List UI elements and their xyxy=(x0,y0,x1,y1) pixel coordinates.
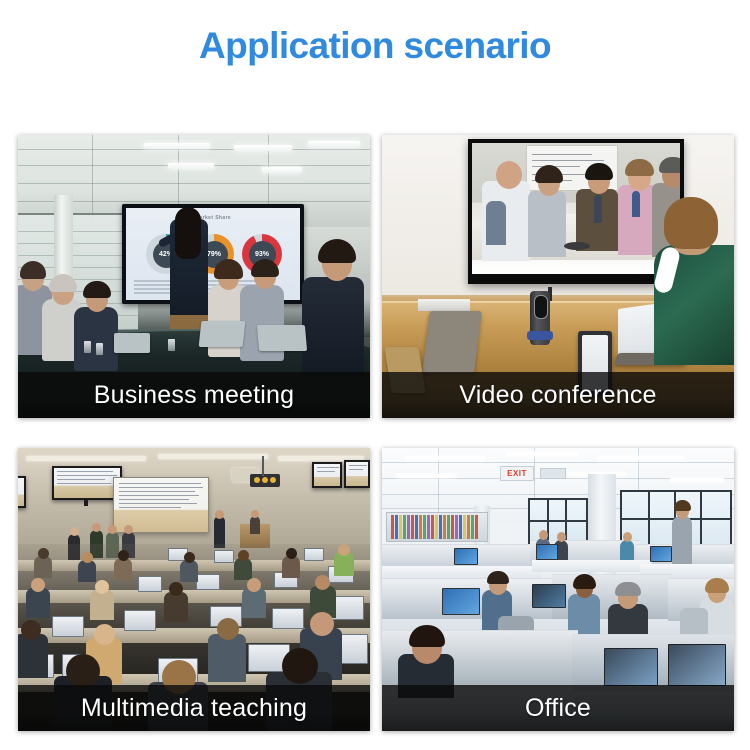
business-meeting-photo: Market Share 42% 79% 93% xyxy=(18,135,370,418)
remote-participant-head xyxy=(496,161,522,189)
ceiling-light xyxy=(670,478,724,482)
student xyxy=(164,592,188,622)
student-laptop xyxy=(138,576,162,592)
overhead-monitor xyxy=(344,460,370,488)
office-worker-head xyxy=(623,532,632,542)
student xyxy=(208,634,246,682)
remote-participant-hair xyxy=(625,159,654,176)
scenario-card-office[interactable]: EXIT xyxy=(382,448,734,731)
monitor-screen xyxy=(314,464,340,486)
laptop xyxy=(114,333,150,353)
blind-slat xyxy=(18,255,138,256)
drinking-glass xyxy=(168,339,175,351)
student-head xyxy=(184,552,195,563)
student xyxy=(26,588,50,618)
student-head xyxy=(94,624,115,645)
lecturer-head xyxy=(215,510,224,519)
student-head xyxy=(217,618,239,640)
caption-band: Multimedia teaching xyxy=(18,685,370,731)
remote-participant xyxy=(528,191,566,257)
office-worker-hair xyxy=(705,578,729,593)
student-head xyxy=(338,544,350,556)
monitor-screen xyxy=(54,468,120,498)
ceiling-light xyxy=(506,452,578,456)
monitor-screen xyxy=(18,478,24,506)
scenario-grid: Market Share 42% 79% 93% xyxy=(18,135,734,731)
student-head xyxy=(21,620,41,640)
student-laptop xyxy=(124,610,156,631)
office-worker-head xyxy=(539,530,548,540)
student-laptop xyxy=(272,608,304,629)
monitor-mount xyxy=(84,500,88,506)
student xyxy=(234,558,252,580)
scenario-caption-video-conference: Video conference xyxy=(459,381,656,410)
desktop-monitor xyxy=(454,548,478,565)
student-head xyxy=(31,578,45,592)
ceiling-vent xyxy=(540,468,566,479)
bookshelf xyxy=(386,512,488,542)
office-worker-hair xyxy=(487,571,509,584)
desktop-monitor xyxy=(536,544,558,560)
student-head xyxy=(82,552,93,563)
remote-participant-tie xyxy=(486,201,506,245)
student-laptop xyxy=(196,574,220,590)
overhead-monitor xyxy=(18,476,26,508)
ceiling-grid-line xyxy=(18,183,370,184)
remote-participant-hair xyxy=(659,157,680,173)
ceiling-light xyxy=(406,456,486,460)
application-scenario-page: Application scenario xyxy=(0,0,750,750)
ceiling-light xyxy=(262,167,302,173)
drinking-glass xyxy=(96,343,103,355)
drinking-glass xyxy=(84,341,91,353)
overhead-monitor xyxy=(52,466,122,500)
student-head xyxy=(38,548,49,559)
ceiling-grid-line xyxy=(382,462,734,463)
scenario-caption-business-meeting: Business meeting xyxy=(94,381,295,410)
desktop-monitor xyxy=(604,648,658,686)
presenter-hair xyxy=(175,207,201,259)
student-head xyxy=(286,548,297,559)
scenario-card-video-conference[interactable]: Video conference xyxy=(382,135,734,418)
wall-mounted-tv xyxy=(468,139,684,284)
scenario-card-business-meeting[interactable]: Market Share 42% 79% 93% xyxy=(18,135,370,418)
ceiling-light xyxy=(396,474,456,478)
standing-worker-hair xyxy=(674,500,691,511)
remote-participant-tie xyxy=(632,191,640,217)
student-head xyxy=(315,575,330,590)
overhead-monitor xyxy=(312,462,342,488)
student-head xyxy=(169,582,183,596)
laptop xyxy=(257,325,307,351)
desktop-monitor xyxy=(650,546,672,562)
office-worker-hair xyxy=(409,625,445,647)
office-worker-hair xyxy=(615,582,641,596)
student-head xyxy=(310,612,334,636)
student xyxy=(242,588,266,618)
seated-person xyxy=(250,516,260,534)
student-head xyxy=(247,578,261,592)
office-photo: EXIT xyxy=(382,448,734,731)
student-head xyxy=(95,580,109,594)
standing-person-head xyxy=(70,527,79,536)
caption-band: Business meeting xyxy=(18,372,370,418)
stacked-books xyxy=(418,299,470,311)
standing-person-head xyxy=(124,525,133,534)
ceiling-light xyxy=(26,456,146,461)
student-head xyxy=(118,550,129,561)
ceiling-light xyxy=(144,143,210,149)
student-laptop xyxy=(304,548,324,561)
camera-lens xyxy=(534,295,548,319)
desk-surface xyxy=(532,560,652,572)
desktop-monitor xyxy=(442,588,480,615)
scenario-card-multimedia-teaching[interactable]: Multimedia teaching xyxy=(18,448,370,731)
student xyxy=(18,634,48,678)
caption-band: Video conference xyxy=(382,372,734,418)
ceiling-light xyxy=(158,454,268,459)
exit-sign: EXIT xyxy=(500,466,534,481)
scenario-caption-multimedia-teaching: Multimedia teaching xyxy=(81,694,307,723)
monitor-screen xyxy=(346,462,368,486)
caption-band: Office xyxy=(382,685,734,731)
projector xyxy=(250,474,280,487)
blind-slat xyxy=(18,231,138,232)
desktop-monitor xyxy=(532,584,566,608)
office-worker-head xyxy=(557,532,566,542)
student-head xyxy=(282,648,318,684)
student xyxy=(282,556,300,578)
attendee xyxy=(74,307,118,371)
ceiling-light xyxy=(168,163,214,169)
student xyxy=(78,560,96,582)
student-head xyxy=(238,550,249,561)
student xyxy=(34,556,52,578)
camera-base xyxy=(527,331,553,340)
blind-slat xyxy=(18,243,138,244)
scenario-caption-office: Office xyxy=(525,694,591,723)
laptop xyxy=(199,321,246,347)
laptop xyxy=(422,311,482,373)
desktop-monitor xyxy=(668,644,726,686)
attendee-hair xyxy=(318,239,356,263)
projector-mount xyxy=(262,456,264,476)
ceiling-light xyxy=(234,145,292,151)
seated-woman-hair xyxy=(664,197,718,249)
student xyxy=(180,560,198,582)
tv-screen xyxy=(472,143,680,274)
standing-person-head xyxy=(92,523,101,532)
attendee xyxy=(302,277,364,375)
seated-person-head xyxy=(251,510,259,518)
ceiling-light xyxy=(598,456,684,460)
office-worker-hair xyxy=(573,574,596,589)
remote-participant-tie xyxy=(594,195,602,223)
student xyxy=(90,590,114,620)
ceiling-grid-line xyxy=(18,149,370,150)
video-conference-photo: Video conference xyxy=(382,135,734,418)
student xyxy=(114,558,132,580)
office-worker xyxy=(620,540,634,562)
student-laptop xyxy=(52,616,84,637)
ceiling-light xyxy=(308,141,360,147)
standing-person-head xyxy=(108,525,117,534)
student-head xyxy=(66,654,100,688)
remote-speakerphone xyxy=(564,242,590,250)
student-laptop xyxy=(214,550,234,563)
page-title: Application scenario xyxy=(0,26,750,67)
multimedia-teaching-photo: Multimedia teaching xyxy=(18,448,370,731)
